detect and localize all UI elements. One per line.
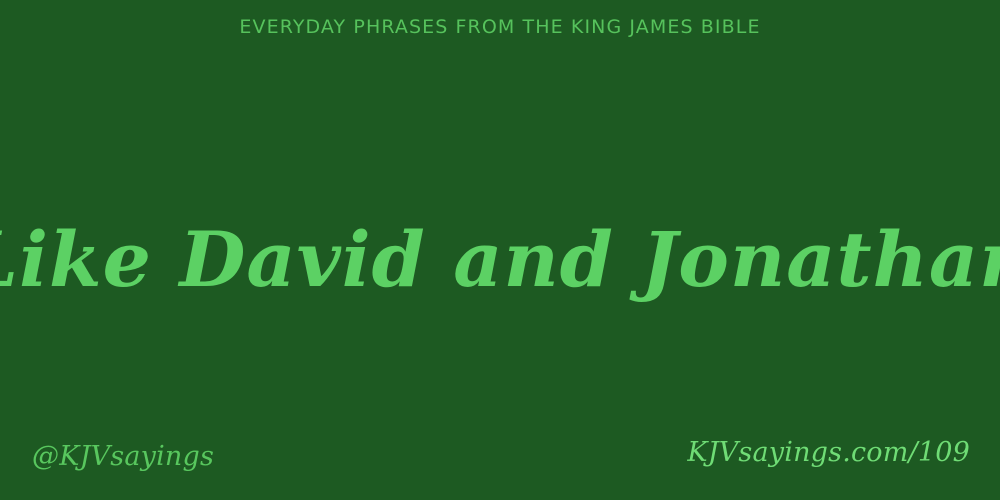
- website-url: KJVsayings.com/109: [687, 437, 970, 468]
- phrase-text: Like David and Jonathan: [0, 218, 1000, 302]
- phrase-container: Like David and Jonathan: [0, 0, 1000, 500]
- quote-card: EVERYDAY PHRASES FROM THE KING JAMES BIB…: [0, 0, 1000, 500]
- social-handle: @KJVsayings: [32, 441, 214, 472]
